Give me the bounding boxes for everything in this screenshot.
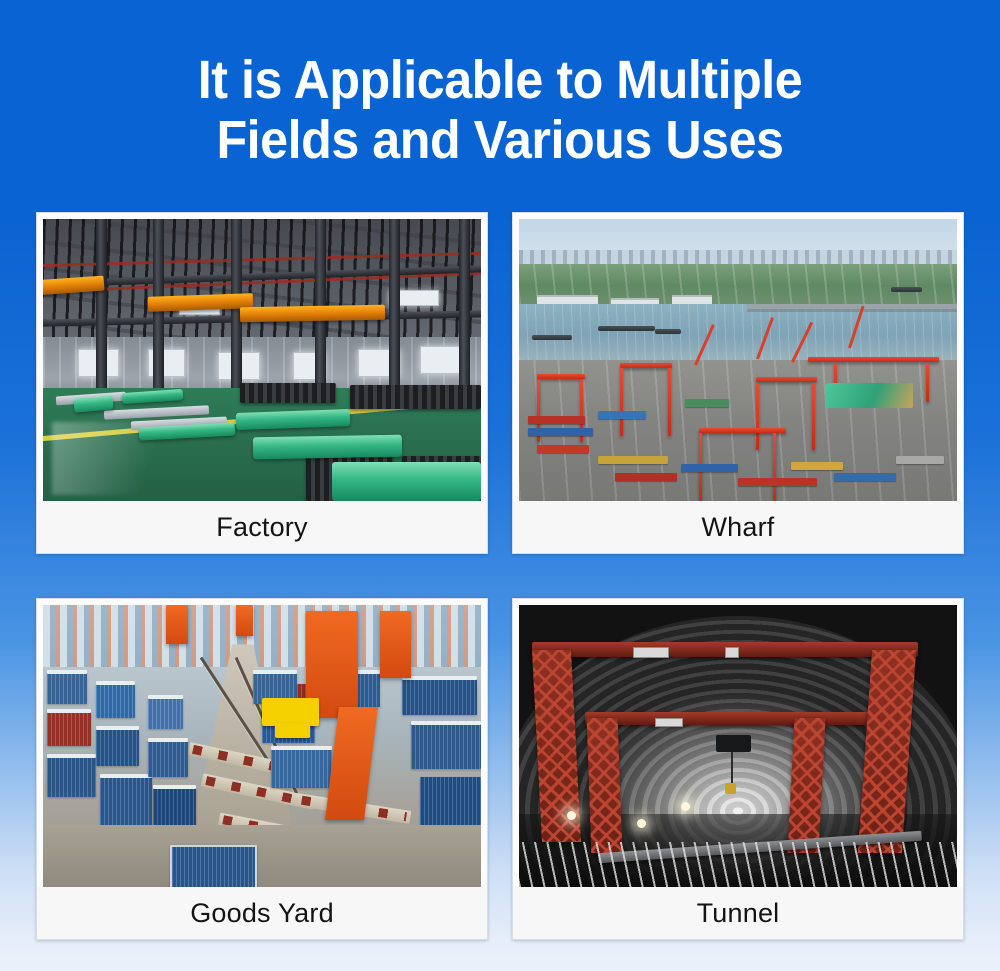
card-caption-factory: Factory: [37, 501, 487, 553]
goods-yard-container-roof: [148, 738, 187, 742]
wharf-photo: [519, 219, 957, 501]
factory-green-pipe-bundle: [235, 409, 349, 430]
tunnel-rebar-bundle: [519, 842, 957, 887]
wharf-container: [681, 464, 738, 472]
goods-yard-container: [148, 698, 183, 729]
goods-yard-container-roof: [411, 721, 481, 725]
wharf-barge: [891, 287, 922, 292]
goods-yard-open-container: [170, 845, 257, 887]
factory-photo: [43, 219, 481, 501]
page-title: It is Applicable to Multiple Fields and …: [35, 50, 965, 170]
wharf-gantry-crane: [756, 377, 817, 382]
goods-yard-container: [96, 729, 140, 766]
wharf-gantry-crane: [756, 383, 759, 451]
tunnel-photo: [519, 605, 957, 887]
factory-column: [153, 219, 164, 411]
factory-column: [96, 219, 107, 411]
goods-yard-container: [402, 678, 476, 715]
goods-yard-gantry-crane: [166, 605, 188, 644]
wharf-container: [834, 473, 895, 481]
tunnel-crane-tower: [787, 718, 825, 853]
wharf-container: [896, 456, 944, 464]
factory-overhead-crane: [240, 305, 385, 323]
wharf-gantry-crane: [773, 433, 776, 501]
tunnel-crane-tower: [587, 718, 622, 853]
factory-column: [389, 219, 400, 411]
goods-yard-container-roof: [153, 785, 197, 789]
goods-yard-container-roof: [148, 695, 183, 699]
tunnel-lower-girder: [585, 712, 874, 725]
application-card-tunnel[interactable]: Tunnel: [512, 598, 964, 940]
wharf-container: [598, 456, 668, 464]
wharf-gantry-crane: [926, 363, 929, 402]
tunnel-scene: [519, 605, 957, 887]
tunnel-hoist-trolley: [716, 735, 751, 752]
goods-yard-gantry-crane: [380, 611, 411, 679]
wharf-barge: [598, 326, 655, 331]
goods-yard-far-stacks: [43, 605, 481, 667]
tunnel-work-light: [567, 811, 576, 820]
factory-pipe-stack: [240, 383, 336, 403]
wharf-container: [685, 399, 729, 407]
wharf-container: [791, 462, 844, 470]
goods-yard-container: [47, 712, 91, 746]
application-card-factory[interactable]: Factory: [36, 212, 488, 554]
card-caption-wharf: Wharf: [513, 501, 963, 553]
goods-yard-apron: [43, 825, 481, 887]
factory-pipe-stack: [350, 385, 481, 409]
goods-yard-photo: [43, 605, 481, 887]
factory-green-pipe-bundle: [73, 395, 113, 412]
goods-yard-gantry-crane: [236, 605, 254, 636]
tunnel-crane-label-plate: [655, 718, 683, 727]
factory-scene: [43, 219, 481, 501]
wharf-barge: [532, 335, 571, 340]
card-caption-goods-yard: Goods Yard: [37, 887, 487, 939]
goods-yard-container: [271, 749, 332, 788]
goods-yard-container-roof: [47, 754, 95, 758]
wharf-gantry-crane: [537, 374, 585, 379]
application-card-goods-yard[interactable]: Goods Yard: [36, 598, 488, 940]
wharf-gantry-crane: [699, 428, 787, 433]
goods-yard-container-roof: [96, 726, 140, 730]
goods-yard-spreader: [275, 723, 310, 737]
tunnel-crane-label-plate: [633, 647, 669, 658]
wharf-gantry-crane: [812, 383, 815, 451]
wharf-gantry-crane: [668, 368, 671, 436]
goods-yard-container: [148, 740, 187, 777]
goods-yard-container-roof: [253, 670, 297, 674]
wharf-container: [738, 478, 817, 486]
goods-yard-container: [47, 757, 95, 796]
goods-yard-container: [96, 684, 135, 718]
wharf-barge: [655, 329, 681, 334]
wharf-container: [598, 411, 646, 419]
goods-yard-container-roof: [47, 709, 91, 713]
wharf-container: [528, 428, 594, 436]
goods-yard-container: [47, 673, 86, 704]
factory-green-pipe-bundle: [332, 462, 481, 501]
wharf-gantry-crane: [808, 357, 939, 362]
goods-yard-container-roof: [96, 681, 135, 685]
wharf-container: [615, 473, 676, 481]
goods-yard-container-roof: [271, 746, 332, 750]
wharf-gantry-crane: [620, 368, 623, 436]
wharf-green-tarp: [826, 383, 914, 408]
goods-yard-container: [411, 723, 481, 768]
goods-yard-gantry-crane: [325, 707, 378, 820]
goods-yard-container-roof: [47, 670, 86, 674]
factory-column: [459, 219, 470, 411]
tunnel-crane-number-plate: [725, 647, 739, 658]
wharf-container: [528, 416, 585, 424]
goods-yard-container-roof: [402, 676, 476, 680]
application-card-wharf[interactable]: Wharf: [512, 212, 964, 554]
card-caption-tunnel: Tunnel: [513, 887, 963, 939]
tunnel-hoist-block: [725, 783, 736, 794]
wharf-bridge: [747, 304, 957, 309]
tunnel-hoist-cable: [731, 752, 733, 786]
wharf-distant-skyline: [519, 250, 957, 264]
goods-yard-container-roof: [100, 774, 153, 778]
factory-green-pipe-bundle: [253, 435, 402, 460]
goods-yard-spreader: [262, 698, 319, 726]
application-card-grid: Factory: [36, 212, 964, 940]
goods-yard-scene: [43, 605, 481, 887]
promo-banner: It is Applicable to Multiple Fields and …: [0, 0, 1000, 971]
wharf-gantry-crane: [620, 363, 673, 368]
wharf-scene: [519, 219, 957, 501]
wharf-container: [537, 445, 590, 453]
